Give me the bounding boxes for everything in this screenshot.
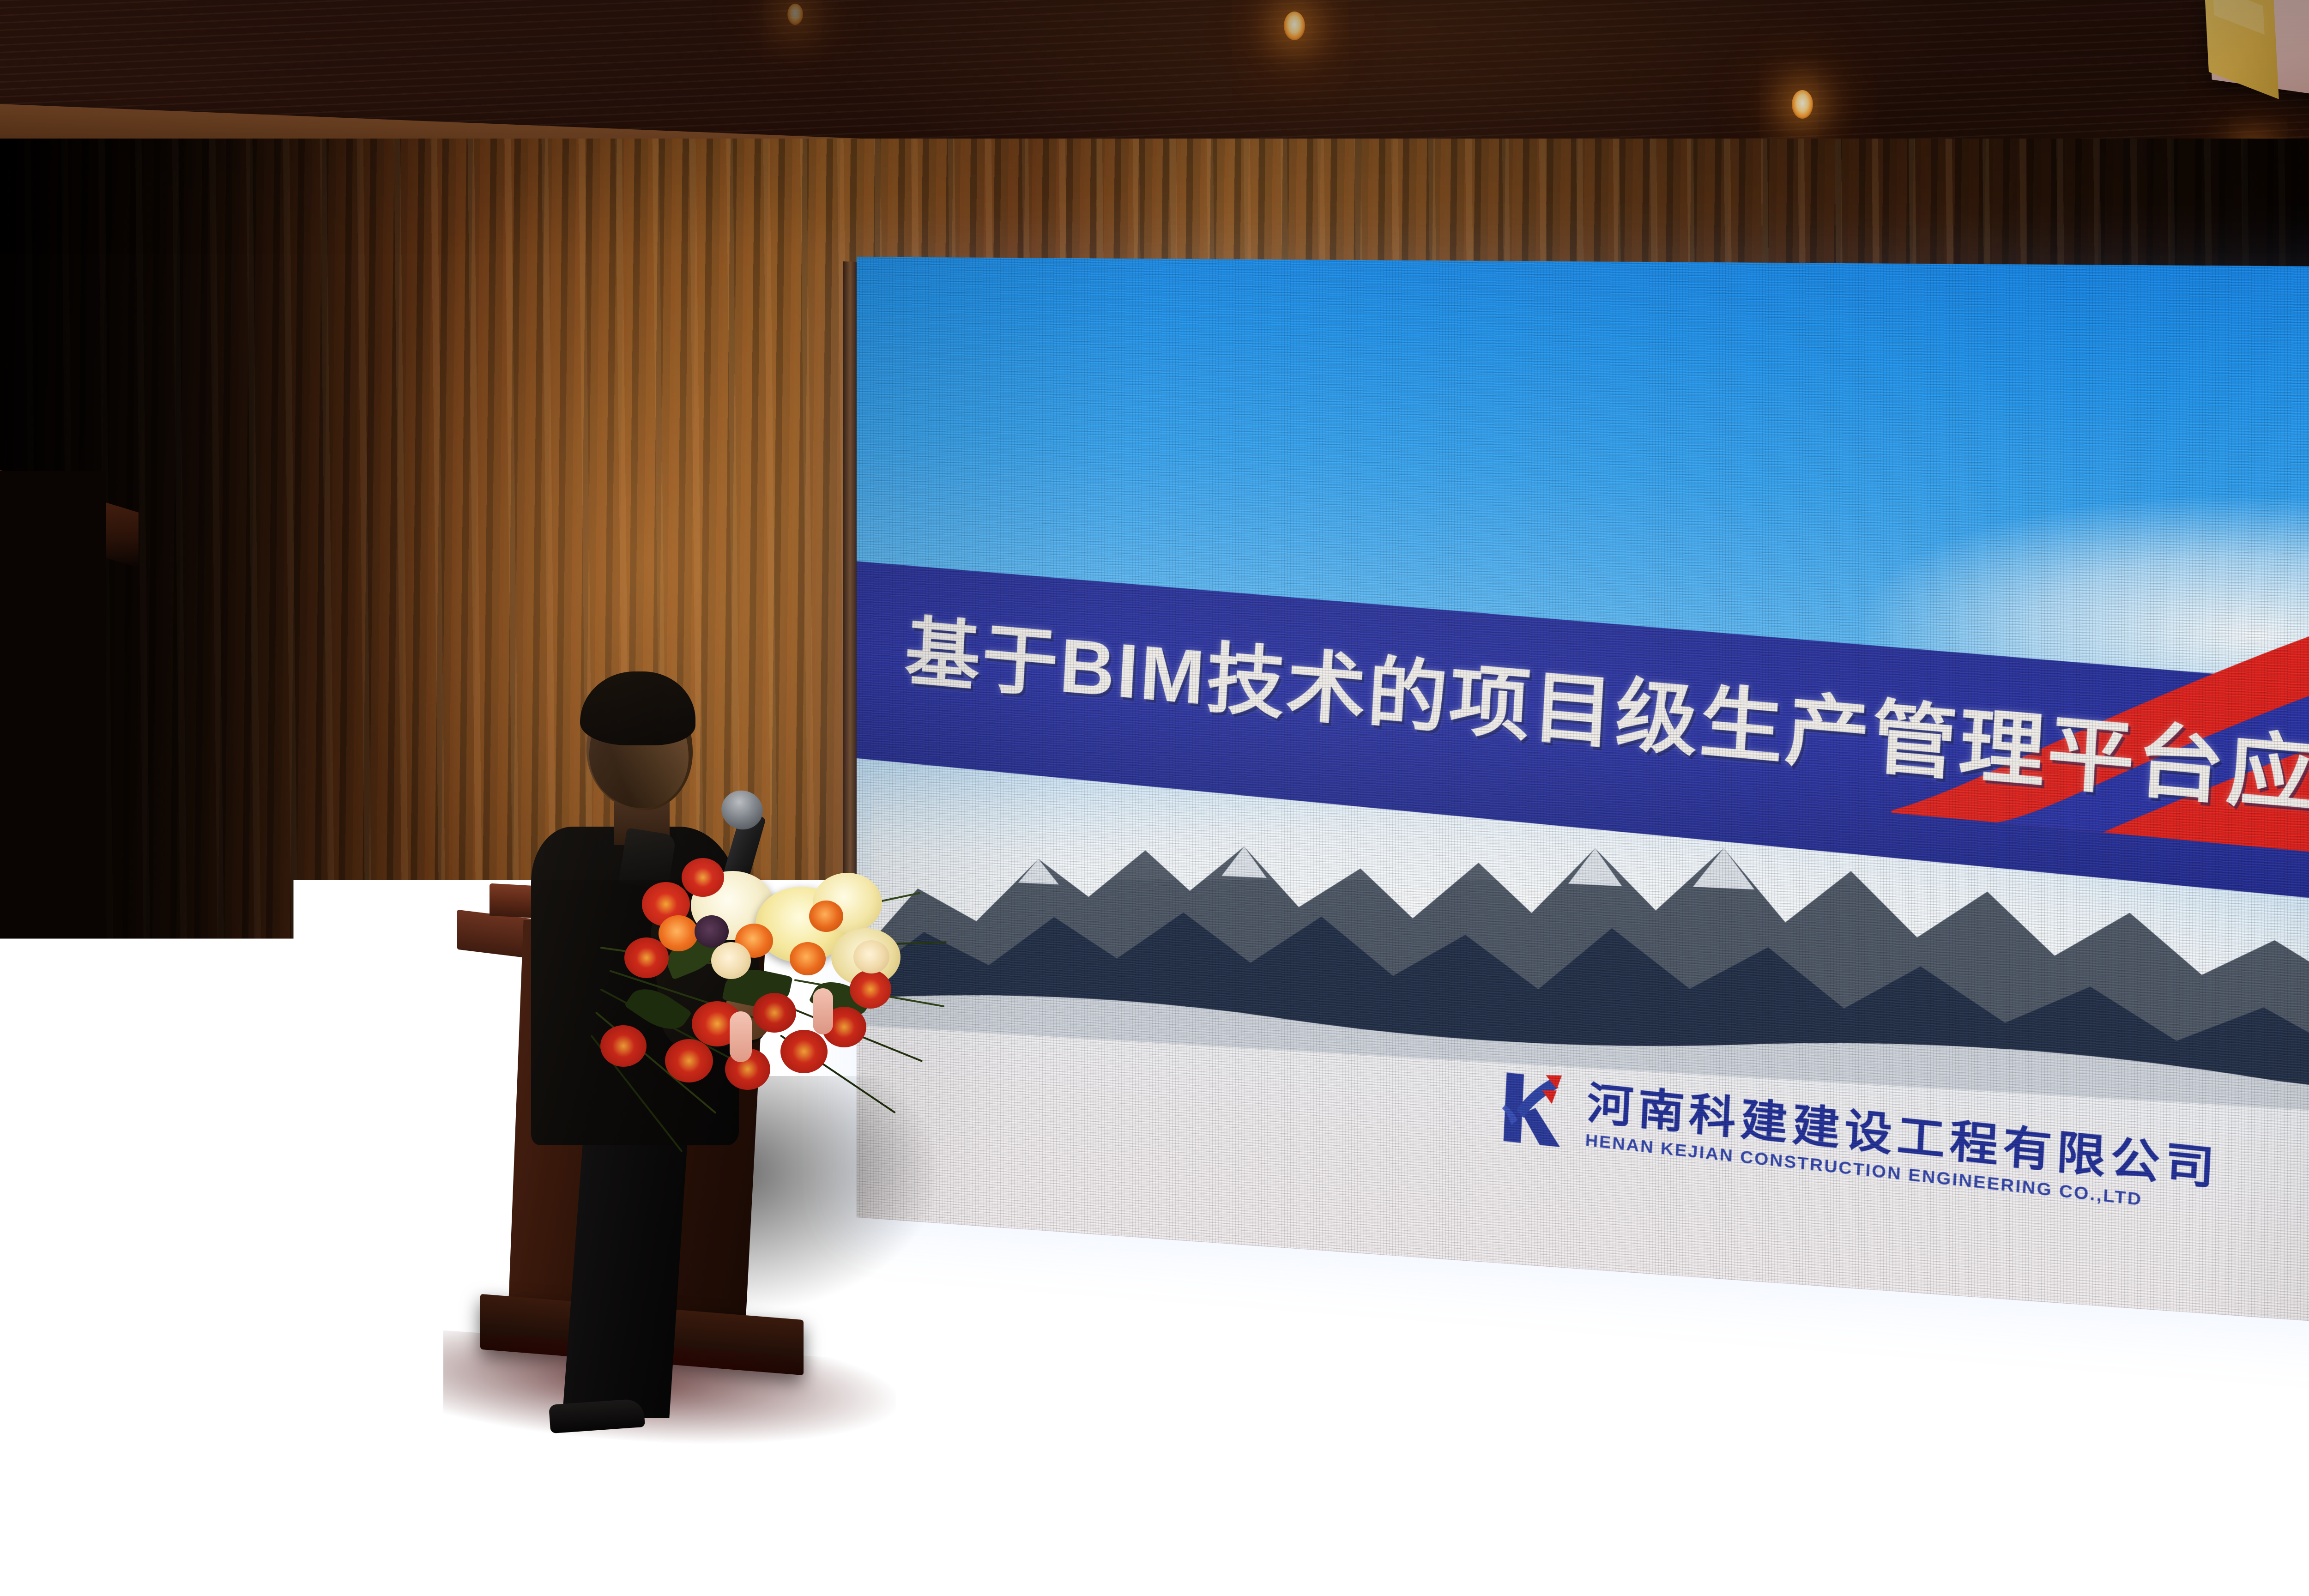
wall-recess — [0, 471, 106, 1071]
gerbera-flower — [850, 970, 891, 1009]
carnation-flower — [790, 942, 826, 975]
ceiling-fixture-vent — [2212, 0, 2265, 35]
filler-spray — [730, 1011, 752, 1062]
rose-flower — [853, 940, 889, 973]
filler-spray — [813, 988, 833, 1034]
gerbera-flower — [600, 1025, 647, 1067]
speaker-hair — [580, 671, 695, 745]
downlight-icon — [1284, 12, 1305, 40]
flower-arrangement — [573, 831, 933, 1228]
downlight-icon — [787, 4, 803, 25]
downlight-icon — [1792, 90, 1813, 119]
led-screen: 基于BIM技术的项目级生产管理平台应用 河南科建建设工程有限公司 HENAN K… — [857, 257, 2309, 1338]
k-logo-icon — [1495, 1068, 1573, 1153]
gerbera-flower — [682, 858, 724, 897]
gerbera-flower — [780, 1030, 828, 1073]
gerbera-flower — [753, 993, 796, 1033]
stage-scene: 基于BIM技术的项目级生产管理平台应用 河南科建建设工程有限公司 HENAN K… — [0, 0, 2309, 1596]
carnation-flower — [659, 915, 698, 951]
rose-flower — [711, 942, 751, 979]
carnation-flower — [809, 901, 843, 932]
accent-bloom — [695, 915, 729, 948]
gerbera-flower — [665, 1039, 713, 1082]
